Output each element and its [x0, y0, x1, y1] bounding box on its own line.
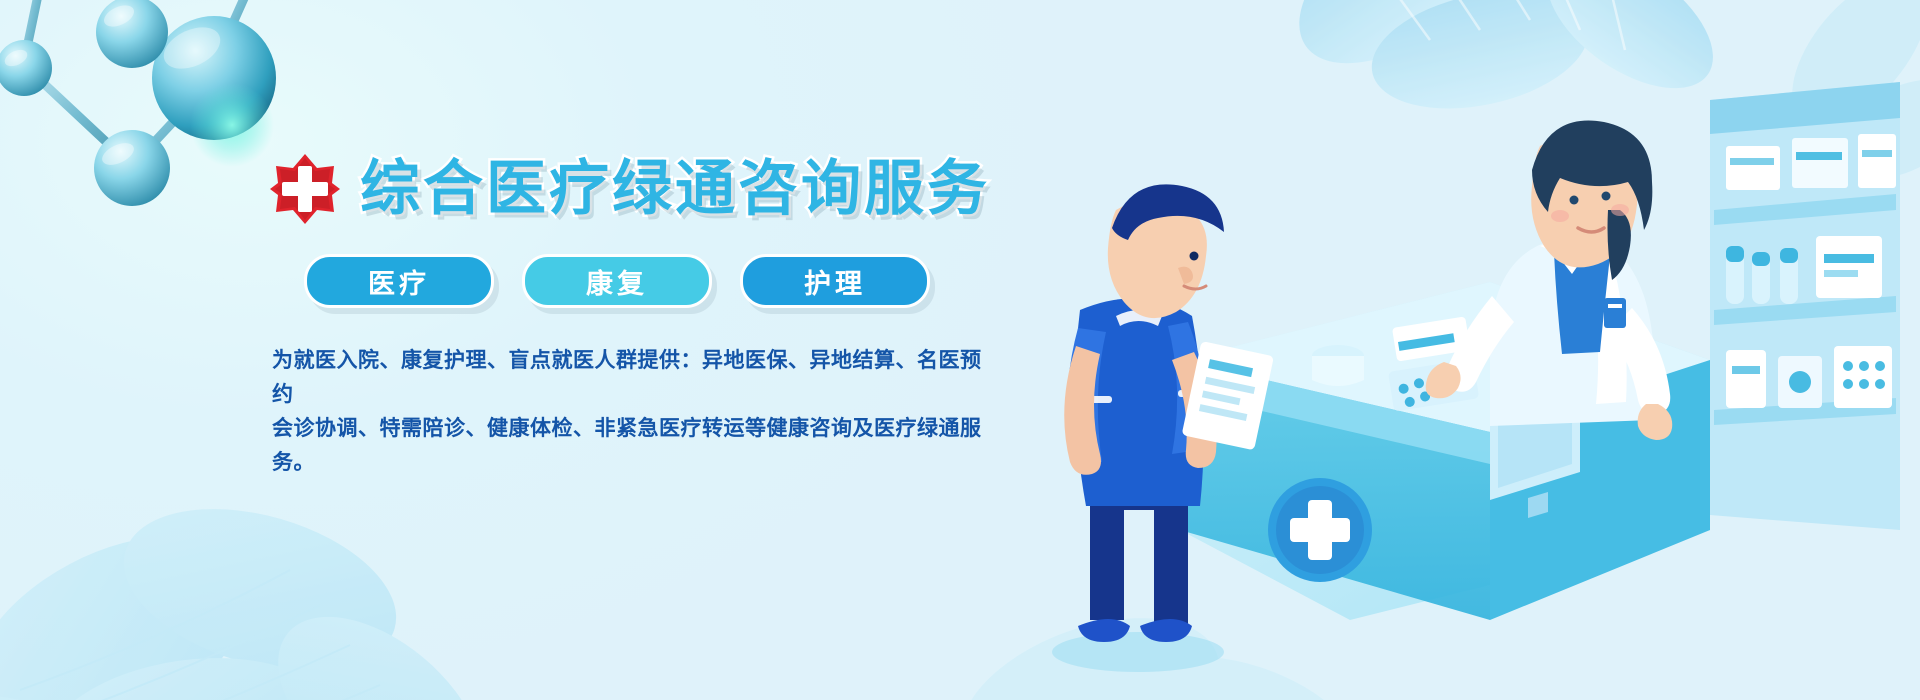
service-tag-nursing[interactable]: 护理 — [740, 254, 930, 308]
description-line-1: 为就医入院、康复护理、盲点就医人群提供：异地医保、异地结算、名医预约 — [272, 344, 988, 412]
page-title: 综合医疗绿通咨询服务 — [360, 153, 990, 225]
service-tag-medical[interactable]: 医疗 — [304, 254, 494, 308]
service-tag-list: 医疗 康复 护理 — [304, 254, 988, 308]
medical-cross-badge-icon — [268, 152, 342, 226]
counter-cross-emblem — [1268, 478, 1372, 582]
title-row: 综合医疗绿通咨询服务 — [268, 150, 988, 228]
molecule-graphic — [0, 0, 312, 230]
service-tag-label: 康复 — [586, 262, 648, 301]
service-tag-label: 护理 — [804, 262, 866, 301]
service-tag-rehabilitation[interactable]: 康复 — [522, 254, 712, 308]
service-tag-label: 医疗 — [368, 262, 430, 301]
description-line-2: 会诊协调、特需陪诊、健康体检、非紧急医疗转运等健康咨询及医疗绿通服务。 — [272, 412, 988, 480]
banner-copy: 综合医疗绿通咨询服务 医疗 康复 护理 为就医入院、康复护理、盲点就医人群提供：… — [268, 150, 988, 480]
banner-description: 为就医入院、康复护理、盲点就医人群提供：异地医保、异地结算、名医预约 会诊协调、… — [272, 344, 988, 480]
medical-service-banner: 综合医疗绿通咨询服务 医疗 康复 护理 为就医入院、康复护理、盲点就医人群提供：… — [0, 0, 1920, 700]
male-customer — [1052, 184, 1274, 672]
pharmacy-counter-scene — [1020, 60, 1920, 700]
medicine-shelf — [1710, 82, 1900, 530]
